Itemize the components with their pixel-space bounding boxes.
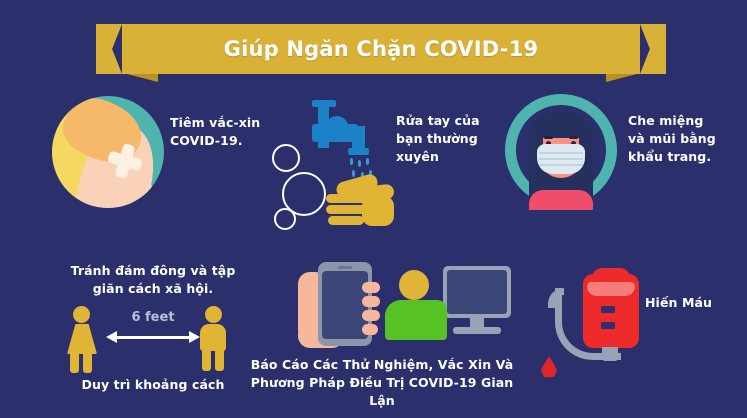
caption-line: Che miệng bbox=[628, 112, 740, 130]
caption-line: giãn cách xã hội. bbox=[48, 280, 258, 298]
page-title: Giúp Ngăn Chặn COVID-19 bbox=[122, 24, 640, 74]
caption-vaccine: Tiêm vắc-xin COVID-19. bbox=[170, 114, 280, 150]
caption-line: COVID-19. bbox=[170, 132, 280, 150]
caption-line: Tránh đám đông và tập bbox=[48, 262, 258, 280]
faucet-and-hands-icon bbox=[268, 96, 392, 228]
caption-report-fraud: Báo Cáo Các Thử Nghiệm, Vắc Xin Và Phươn… bbox=[248, 356, 516, 410]
caption-distancing: Duy trì khoảng cách bbox=[48, 376, 258, 394]
smartphone-speaker bbox=[338, 266, 352, 269]
caption-line: khẩu trang. bbox=[628, 148, 740, 166]
covid-prevention-infographic: Giúp Ngăn Chặn COVID-19 Tiêm vắc-xin COV… bbox=[0, 0, 747, 418]
blood-drop-icon bbox=[541, 356, 557, 378]
arm-with-bandage-icon bbox=[52, 96, 164, 208]
shirt-shape bbox=[529, 190, 593, 210]
hands-icon bbox=[326, 174, 398, 228]
caption-line: Tiêm vắc-xin bbox=[170, 114, 280, 132]
bag-slot bbox=[601, 322, 615, 329]
distance-label: 6 feet bbox=[112, 310, 194, 325]
caption-blood-donation: Hiến Máu bbox=[645, 294, 741, 312]
caption-line: Duy trì khoảng cách bbox=[48, 376, 258, 394]
distance-arrow-left bbox=[106, 331, 117, 343]
caption-line: Hiến Máu bbox=[645, 294, 741, 312]
finger bbox=[362, 310, 380, 321]
monitor-base bbox=[453, 327, 501, 334]
faucet-knob bbox=[326, 116, 348, 138]
person-head bbox=[399, 270, 429, 300]
monitor-screen bbox=[447, 270, 507, 314]
distance-arrow-right bbox=[189, 331, 200, 343]
caption-line: Báo Cáo Các Thử Nghiệm, Vắc Xin Và bbox=[248, 356, 516, 374]
heading-distancing: Tránh đám đông và tập giãn cách xã hội. bbox=[48, 262, 258, 298]
caption-line: và mũi bằng bbox=[628, 130, 740, 148]
caption-line: bạn thường bbox=[396, 130, 506, 148]
ribbon-notch-right bbox=[640, 24, 666, 74]
bubble-icon bbox=[272, 144, 300, 172]
caption-line: xuyên bbox=[396, 148, 506, 166]
bag-nozzle bbox=[602, 347, 618, 361]
distance-arrow-line bbox=[115, 336, 191, 339]
bag-slot bbox=[601, 306, 615, 313]
faucet-outlet bbox=[348, 148, 369, 155]
finger bbox=[362, 296, 380, 307]
caption-mask: Che miệng và mũi bằng khẩu trang. bbox=[628, 112, 740, 166]
caption-line: Rửa tay của bbox=[396, 112, 506, 130]
ribbon-notch-left bbox=[96, 24, 122, 74]
blood-bag-fluid bbox=[587, 282, 635, 296]
title-banner: Giúp Ngăn Chặn COVID-19 bbox=[0, 10, 747, 78]
bubble-icon bbox=[274, 208, 296, 230]
caption-handwashing: Rửa tay của bạn thường xuyên bbox=[396, 112, 506, 166]
caption-line: Phương Pháp Điều Trị COVID-19 Gian Lận bbox=[248, 374, 516, 410]
woman-wearing-mask-icon bbox=[505, 94, 617, 210]
finger bbox=[362, 324, 378, 335]
finger bbox=[362, 282, 380, 293]
